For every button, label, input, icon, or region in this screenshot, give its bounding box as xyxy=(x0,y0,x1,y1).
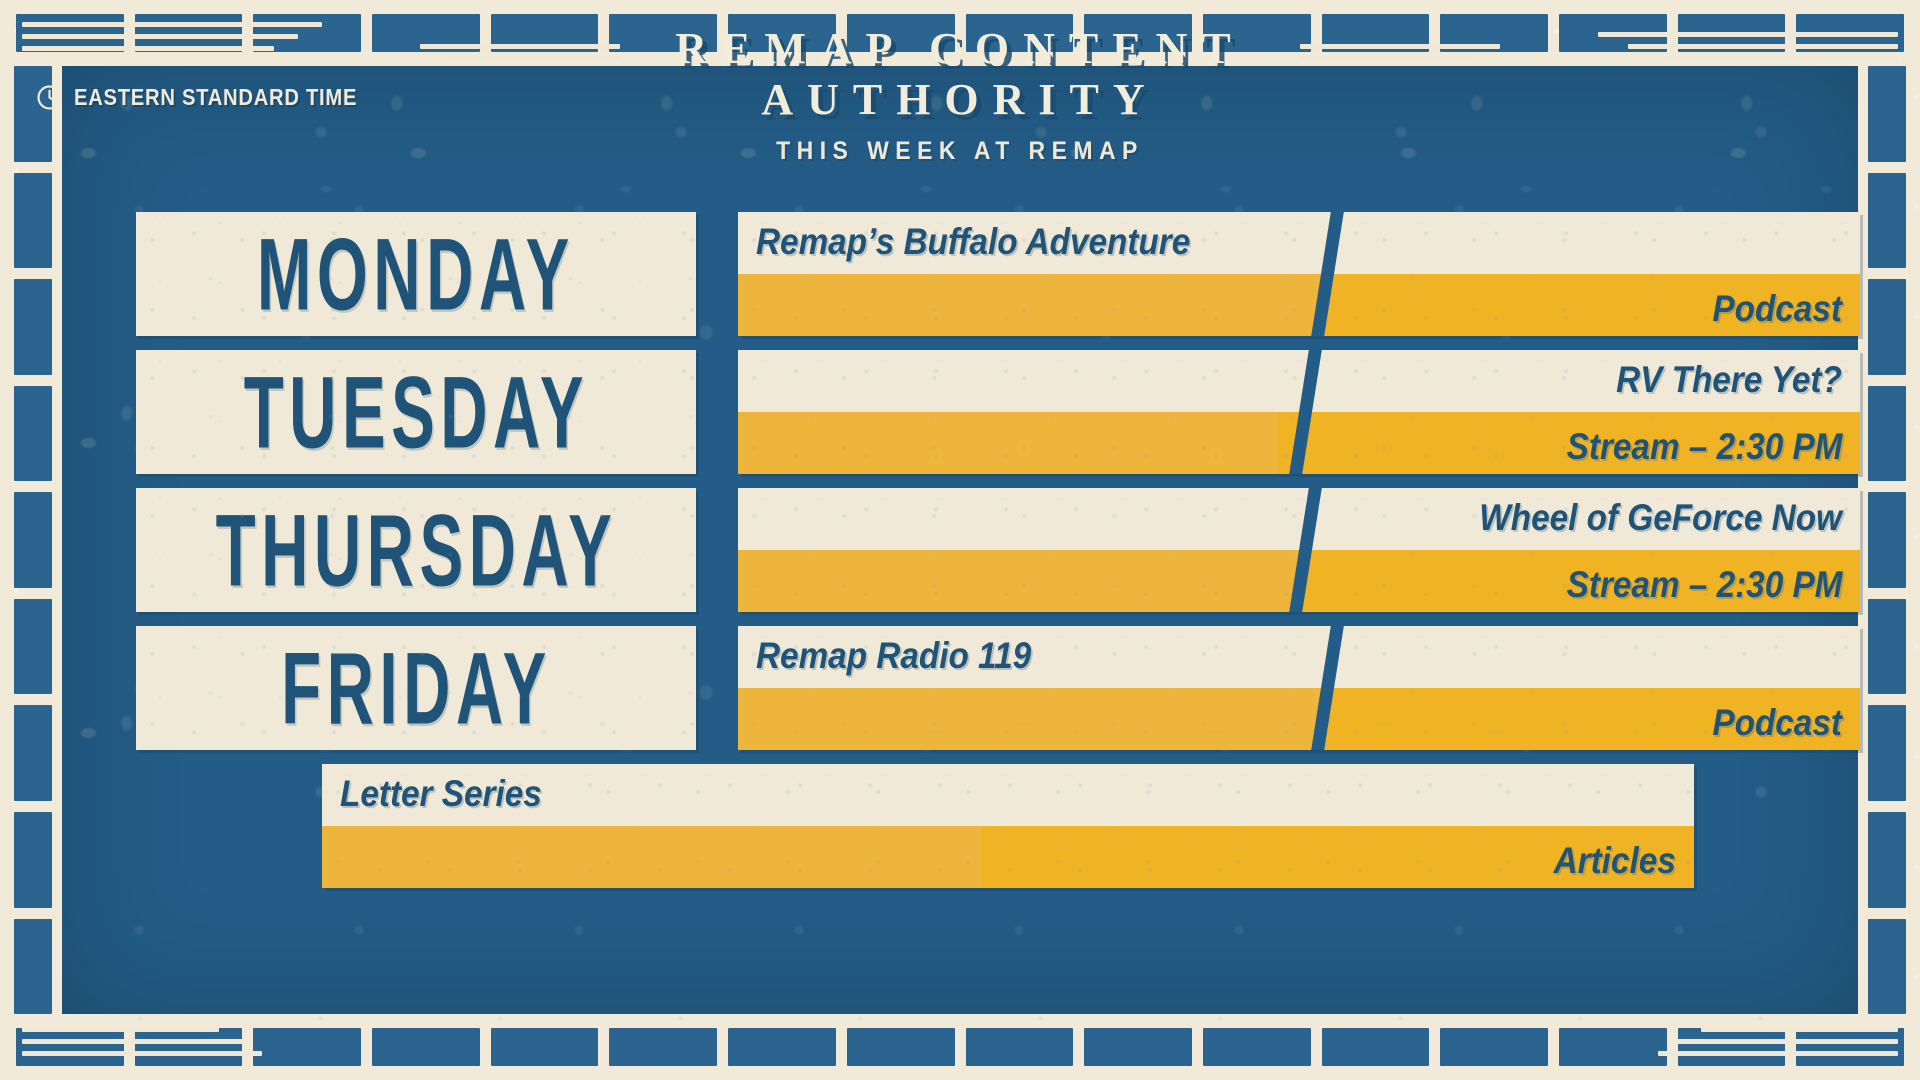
poster-canvas: EASTERN STANDARD TIME REMAP CONTENT AUTH… xyxy=(0,0,1920,1080)
clock-icon xyxy=(36,84,63,111)
day-label: TUESDAY xyxy=(243,361,588,463)
entry-title: Remap’s Buffalo Adventure xyxy=(756,221,1190,263)
day-label: THURSDAY xyxy=(215,499,617,601)
brick-border-left xyxy=(14,66,52,1014)
entry-title: Remap Radio 119 xyxy=(756,635,1031,677)
poster-subtitle: THIS WEEK AT REMAP xyxy=(77,137,1843,166)
entry-category: Stream – 2:30 PM xyxy=(1566,564,1842,606)
entry-title: Wheel of GeForce Now xyxy=(1479,497,1842,539)
schedule-row-tuesday[interactable]: TUESDAY RV There Yet? Stream – 2:30 PM xyxy=(136,350,1860,474)
brick-border-bottom xyxy=(16,1028,1904,1066)
entry-category: Stream – 2:30 PM xyxy=(1566,426,1842,468)
title-line-1: REMAP CONTENT xyxy=(0,26,1920,71)
day-label: MONDAY xyxy=(257,223,575,325)
day-plate-friday: FRIDAY xyxy=(136,626,696,750)
entry-tuesday[interactable]: RV There Yet? Stream – 2:30 PM xyxy=(738,350,1860,474)
day-plate-tuesday: TUESDAY xyxy=(136,350,696,474)
day-plate-thursday: THURSDAY xyxy=(136,488,696,612)
timezone-indicator: EASTERN STANDARD TIME xyxy=(36,84,396,111)
schedule-row-thursday[interactable]: THURSDAY Wheel of GeForce Now Stream – 2… xyxy=(136,488,1860,612)
entry-title: Letter Series xyxy=(340,773,542,815)
entry-title: RV There Yet? xyxy=(1616,359,1842,401)
brick-border-right xyxy=(1868,66,1906,1014)
entry-band-category xyxy=(738,688,1860,750)
schedule-list: MONDAY Remap’s Buffalo Adventure Podcast… xyxy=(136,212,1860,902)
entry-category: Podcast xyxy=(1712,702,1842,744)
schedule-row-friday[interactable]: FRIDAY Remap Radio 119 Podcast xyxy=(136,626,1860,750)
deco-rule-bottom-right xyxy=(1658,1027,1898,1056)
entry-thursday[interactable]: Wheel of GeForce Now Stream – 2:30 PM xyxy=(738,488,1860,612)
entry-band-category xyxy=(738,274,1860,336)
timezone-label: EASTERN STANDARD TIME xyxy=(74,84,357,111)
entry-friday[interactable]: Remap Radio 119 Podcast xyxy=(738,626,1860,750)
day-label: FRIDAY xyxy=(281,637,552,739)
day-plate-monday: MONDAY xyxy=(136,212,696,336)
deco-rule-bottom-left xyxy=(22,1027,262,1056)
schedule-row-letter-series[interactable]: Letter Series Articles xyxy=(322,764,1694,888)
entry-category: Articles xyxy=(1554,840,1676,882)
entry-band-category xyxy=(322,826,1694,888)
entry-letter-series[interactable]: Letter Series Articles xyxy=(322,764,1694,888)
schedule-row-monday[interactable]: MONDAY Remap’s Buffalo Adventure Podcast xyxy=(136,212,1860,336)
entry-monday[interactable]: Remap’s Buffalo Adventure Podcast xyxy=(738,212,1860,336)
entry-category: Podcast xyxy=(1712,288,1842,330)
